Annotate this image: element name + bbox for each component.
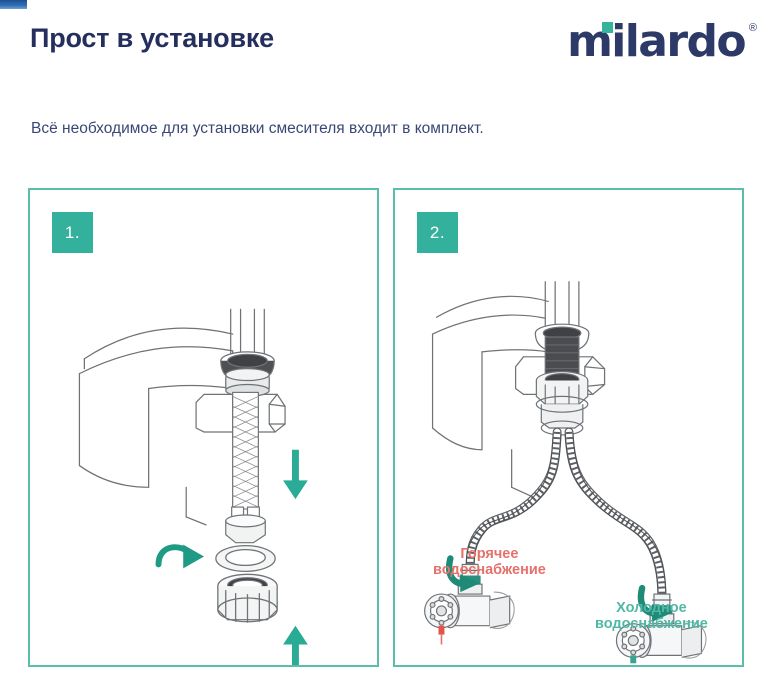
step-2-illustration xyxy=(395,190,742,665)
installation-instruction-page: Прост в установке milardo ® Всё необходи… xyxy=(0,0,773,698)
brand-logo: milardo ® xyxy=(567,20,745,72)
page-title: Прост в установке xyxy=(30,23,274,54)
page-header: Прост в установке milardo ® xyxy=(0,0,773,100)
page-subtitle: Всё необходимое для установки смесителя … xyxy=(31,120,484,138)
step-1-panel: 1. xyxy=(28,188,379,667)
step-1-illustration xyxy=(30,190,377,665)
step-2-panel: 2. xyxy=(393,188,744,667)
brand-wordmark-text: milardo xyxy=(567,20,745,64)
arrow-down-icon xyxy=(283,450,308,499)
arrow-up-icon xyxy=(283,626,308,665)
arrow-rotate-icon xyxy=(159,545,204,569)
hot-water-label-line1: Горячее xyxy=(433,546,546,562)
brand-i-dot-icon xyxy=(602,22,613,33)
cold-water-label-line2: водоснабжение xyxy=(595,616,708,632)
steps-container: 1. xyxy=(0,188,773,670)
hot-marker xyxy=(438,626,444,635)
cold-water-label: Холодное водоснабжение xyxy=(595,600,708,632)
hot-water-label-line2: водоснабжение xyxy=(433,562,546,578)
cold-water-label-line1: Холодное xyxy=(595,600,708,616)
hot-water-label: Горячее водоснабжение xyxy=(433,546,546,578)
registered-trademark-icon: ® xyxy=(749,22,757,34)
cold-marker xyxy=(630,655,636,663)
